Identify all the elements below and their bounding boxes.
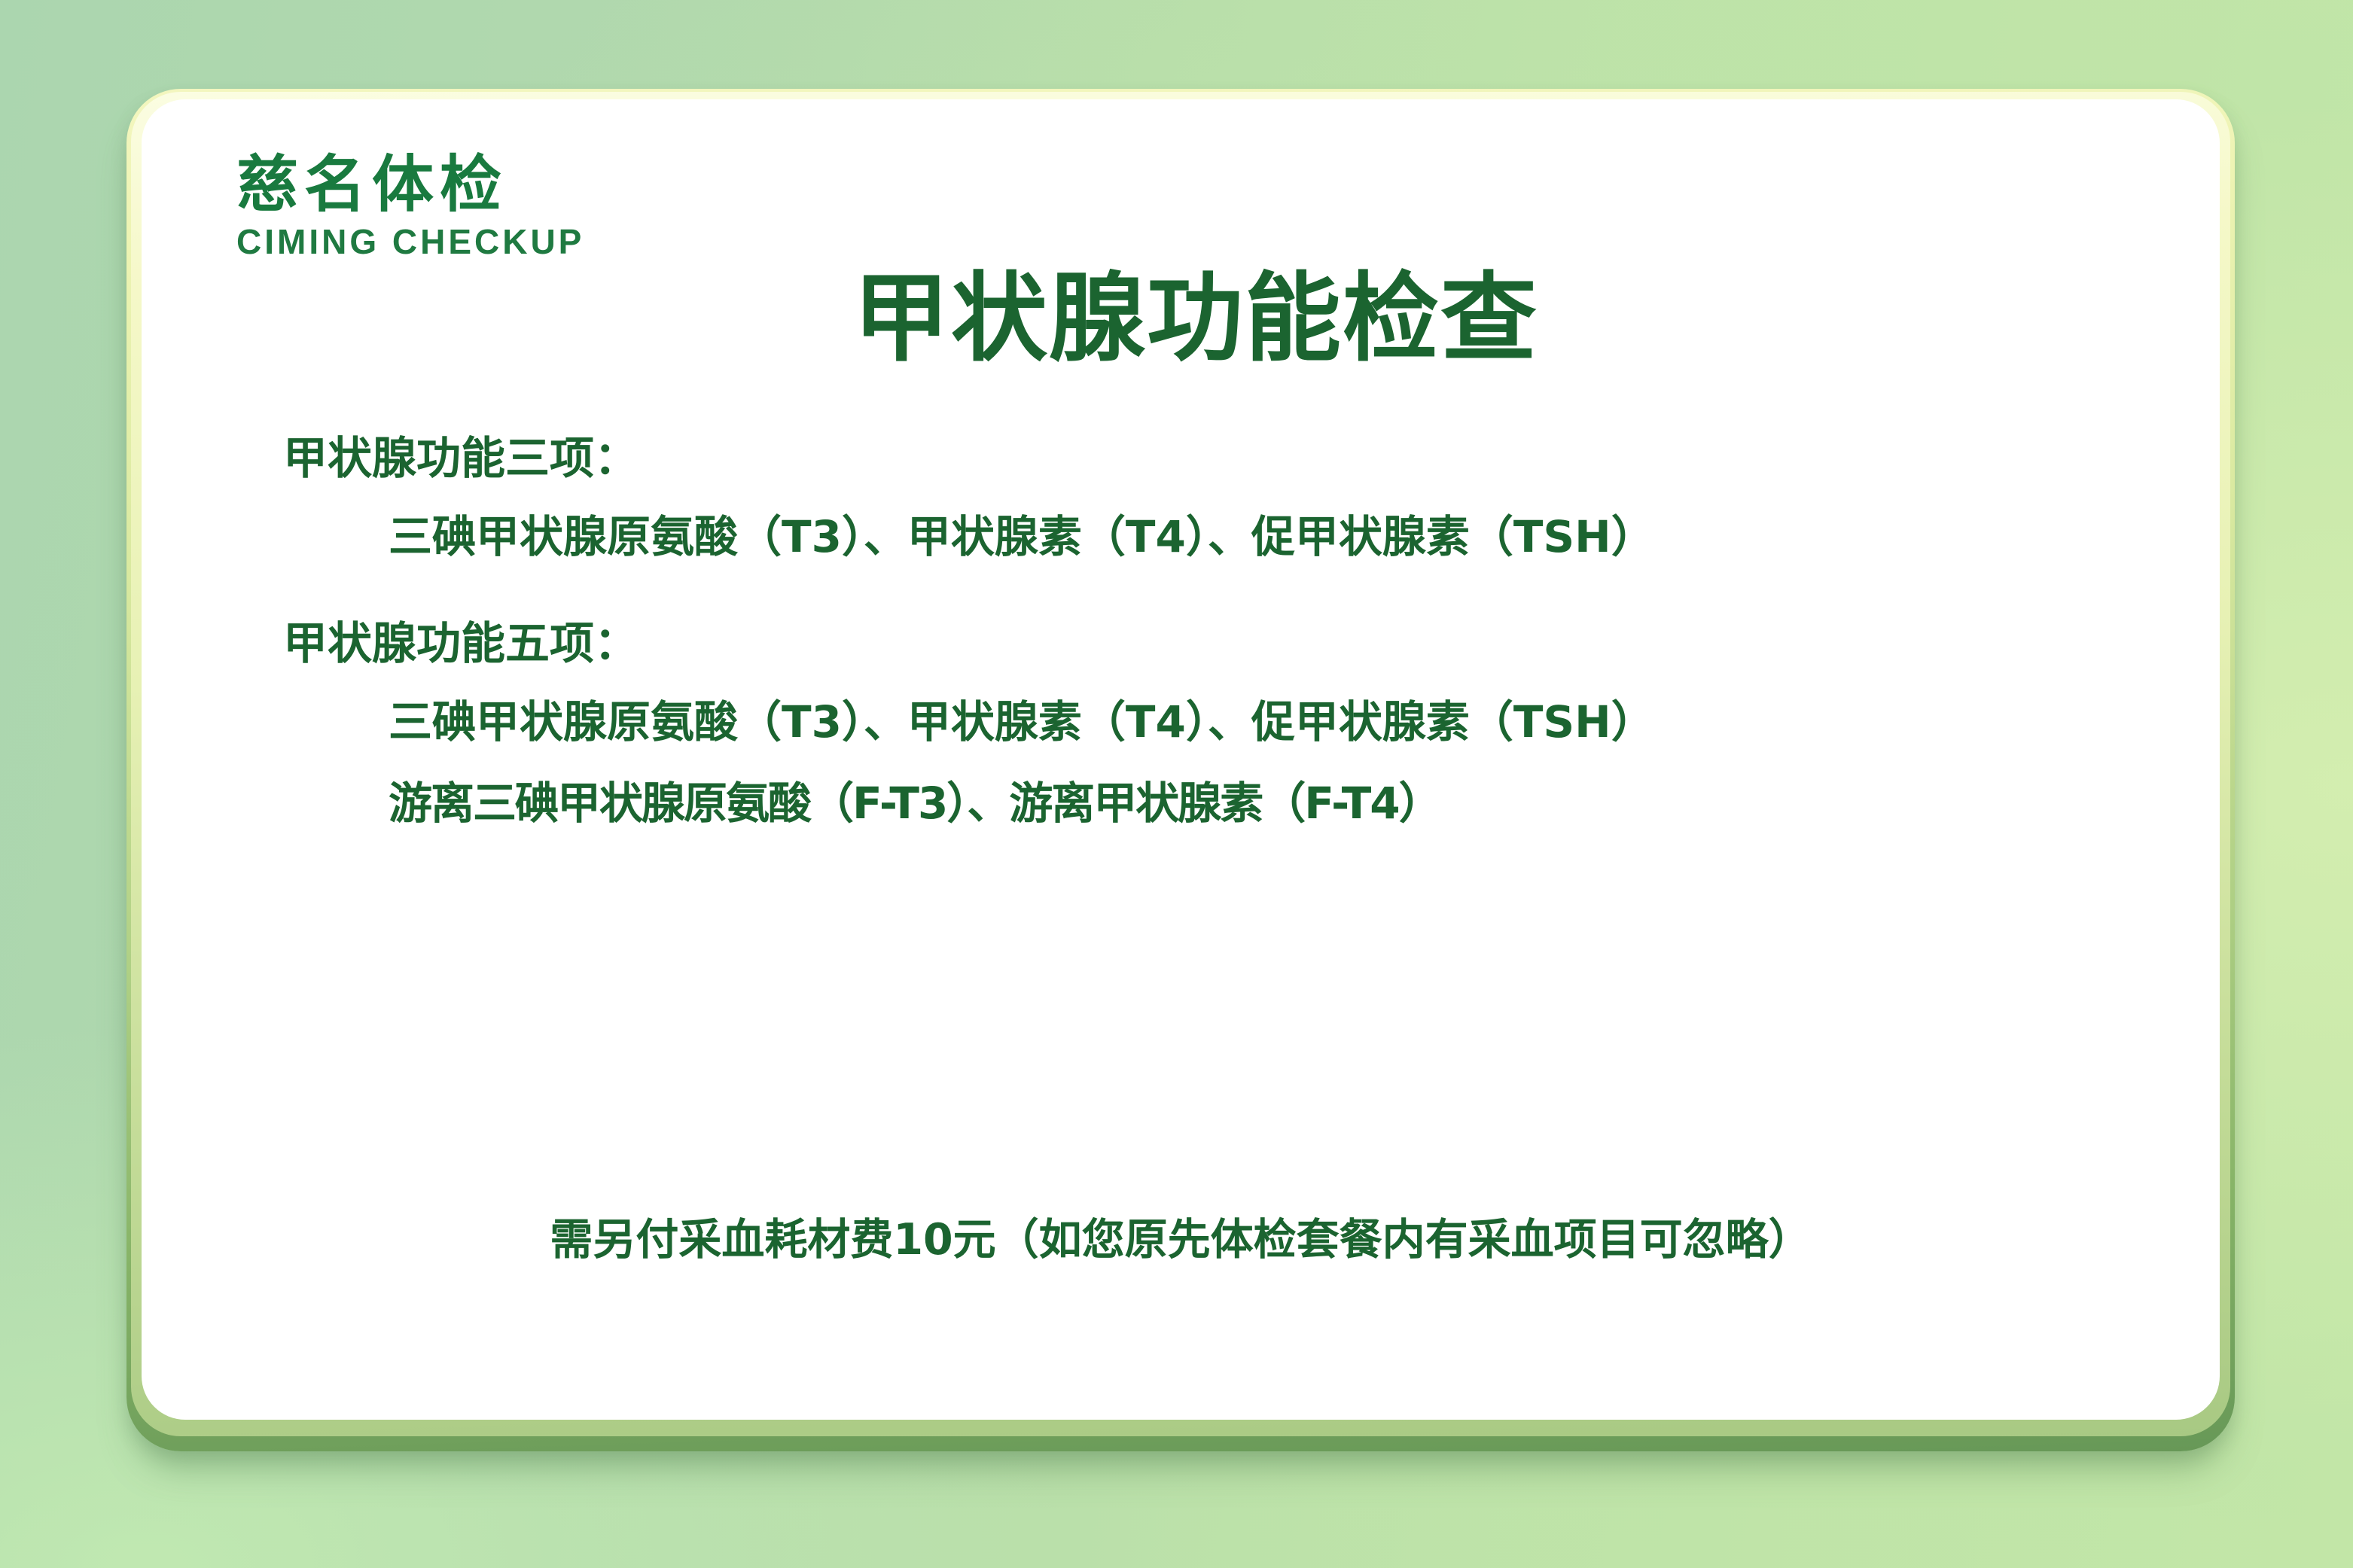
payment-note: 需另付采血耗材费10元（如您原先体检套餐内有采血项目可忽略） [142, 1213, 2220, 1267]
section-thyroid-five-panel: 甲状腺功能五项： 三碘甲状腺原氨酸（T3）、甲状腺素（T4）、促甲状腺素（TSH… [142, 616, 2220, 831]
info-card: 慈名体检 CIMING CHECKUP 甲状腺功能检查 甲状腺功能三项： 三碘甲… [126, 89, 2235, 1451]
section-item-line: 三碘甲状腺原氨酸（T3）、甲状腺素（T4）、促甲状腺素（TSH） [142, 694, 2220, 750]
section-thyroid-three-panel: 甲状腺功能三项： 三碘甲状腺原氨酸（T3）、甲状腺素（T4）、促甲状腺素（TSH… [142, 431, 2220, 565]
poster-canvas: 慈名体检 CIMING CHECKUP 甲状腺功能检查 甲状腺功能三项： 三碘甲… [0, 0, 2353, 1568]
logo-english-name: CIMING CHECKUP [236, 224, 658, 259]
card-rim-inner: 慈名体检 CIMING CHECKUP 甲状腺功能检查 甲状腺功能三项： 三碘甲… [131, 92, 2230, 1436]
content-body: 甲状腺功能三项： 三碘甲状腺原氨酸（T3）、甲状腺素（T4）、促甲状腺素（TSH… [142, 431, 2220, 831]
section-item-line: 游离三碘甲状腺原氨酸（F-T3）、游离甲状腺素（F-T4） [142, 775, 2220, 831]
brand-logo: 慈名体检 CIMING CHECKUP [236, 154, 658, 259]
logo-chinese-name: 慈名体检 [236, 154, 658, 215]
page-title: 甲状腺功能检查 [142, 266, 2220, 373]
section-heading: 甲状腺功能五项： [142, 616, 2220, 671]
section-heading: 甲状腺功能三项： [142, 431, 2220, 486]
card-content-surface: 慈名体检 CIMING CHECKUP 甲状腺功能检查 甲状腺功能三项： 三碘甲… [142, 99, 2220, 1420]
section-item-line: 三碘甲状腺原氨酸（T3）、甲状腺素（T4）、促甲状腺素（TSH） [142, 509, 2220, 565]
